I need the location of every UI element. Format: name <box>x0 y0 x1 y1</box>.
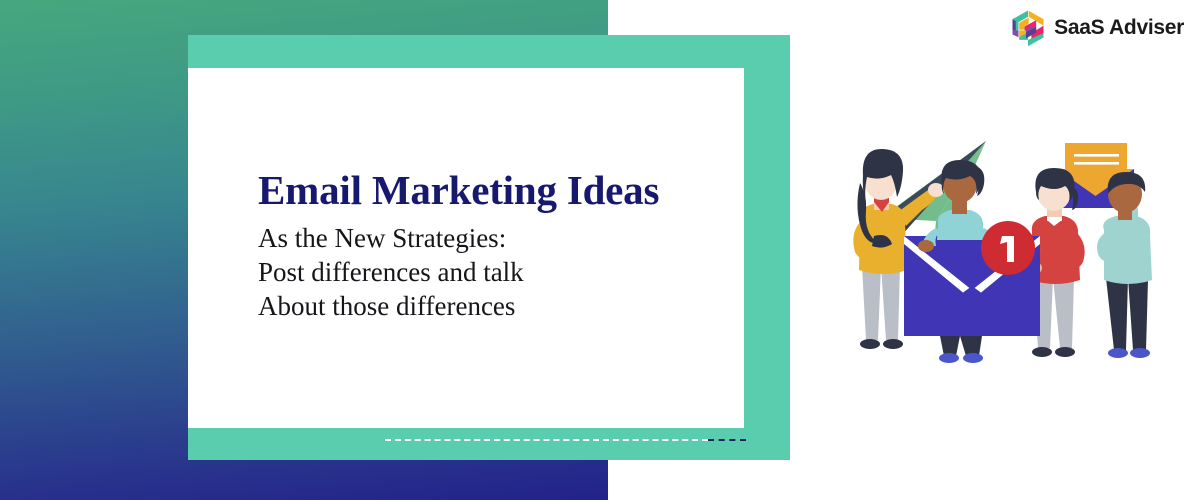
email-marketing-banner: Email Marketing Ideas As the New Strateg… <box>0 0 1200 500</box>
subtitle-line-1: As the New Strategies: <box>258 221 728 255</box>
dashed-divider-dark <box>708 439 746 441</box>
content-card: Email Marketing Ideas As the New Strateg… <box>188 68 744 428</box>
notification-badge-icon <box>981 221 1035 275</box>
saas-adviser-hexagon-logo-icon <box>1011 10 1045 46</box>
page-subtitle: As the New Strategies: Post differences … <box>258 221 728 323</box>
brand-name: SaaS Adviser <box>1054 16 1184 40</box>
card-text-group: Email Marketing Ideas As the New Strateg… <box>258 168 728 323</box>
dashed-divider-light <box>385 439 708 441</box>
subtitle-line-3: About those differences <box>258 289 728 323</box>
subtitle-line-2: Post differences and talk <box>258 255 728 289</box>
email-marketing-team-illustration <box>836 128 1166 368</box>
page-title: Email Marketing Ideas <box>258 168 728 212</box>
brand-logo[interactable]: SaaS Adviser <box>1011 10 1184 46</box>
